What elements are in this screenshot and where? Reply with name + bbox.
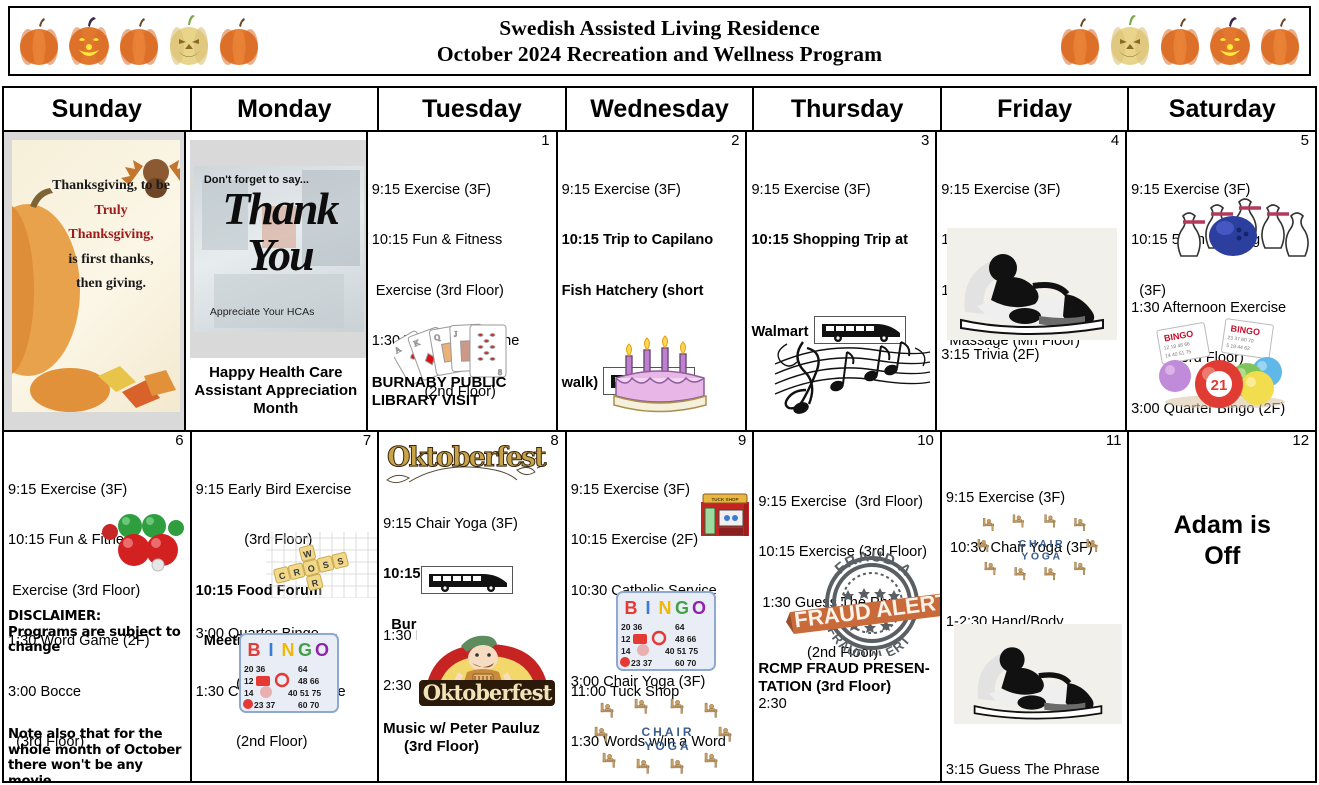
event-item: 10:15 Shopping Trip at bbox=[751, 232, 931, 249]
svg-text:CHAIR: CHAIR bbox=[1019, 538, 1065, 550]
library-visit-note: BURNABY PUBLIC LIBRARY VISIT bbox=[372, 374, 507, 410]
weekday-header-tuesday: Tuesday bbox=[379, 88, 567, 130]
event-item: 10:15 Trip to Capilano bbox=[562, 232, 742, 249]
day-number: 1 bbox=[541, 133, 549, 150]
svg-text:23 37: 23 37 bbox=[254, 700, 276, 710]
music-notes-icon bbox=[765, 324, 935, 422]
weekday-header-thursday: Thursday bbox=[754, 88, 942, 130]
day-cell-empty-sunday[interactable]: Thanksgiving, to be Truly Thanksgiving, … bbox=[4, 132, 186, 430]
event-item: 9:15 Exercise (3rd Floor) bbox=[758, 494, 936, 511]
svg-text:O: O bbox=[692, 598, 706, 618]
bowling-icon bbox=[1167, 182, 1311, 258]
oktoberfest-logo-icon: Oktoberfest bbox=[417, 616, 557, 712]
svg-text:B: B bbox=[624, 598, 637, 618]
svg-text:O: O bbox=[315, 640, 329, 660]
svg-text:YOGA: YOGA bbox=[1021, 550, 1063, 562]
event-item: 3:15 Guess The Phrase bbox=[946, 762, 1100, 779]
photo-caption-line4: then giving. bbox=[52, 272, 170, 297]
weekday-header-sunday: Sunday bbox=[4, 88, 192, 130]
banner-title: Swedish Assisted Living Residence Octobe… bbox=[262, 15, 1057, 67]
rcmp-presentation-note: RCMP FRAUD PRESEN- TATION (3rd Floor) bbox=[758, 660, 929, 696]
day-cell-6[interactable]: 6 9:15 Exercise (3F) 10:15 Fun & Fitness… bbox=[4, 432, 192, 781]
day-cell-10[interactable]: 10 9:15 Exercise (3rd Floor) 10:15 Exerc… bbox=[754, 432, 942, 781]
thank-you-photo: Don't forget to say... Thank You Appreci… bbox=[190, 140, 368, 358]
day-cell-4[interactable]: 4 9:15 Exercise (3F) 10:30 Chair Yoga (3… bbox=[937, 132, 1127, 430]
day-cell-empty-monday[interactable]: Don't forget to say... Thank You Appreci… bbox=[186, 132, 368, 430]
event-item: walk) bbox=[562, 358, 602, 392]
thankyou-line2: Thank You bbox=[200, 186, 360, 278]
adam-off-note: Adam is Off bbox=[1129, 510, 1315, 571]
svg-text:48 66: 48 66 bbox=[298, 676, 320, 686]
day-cell-11[interactable]: 11 9:15 Exercise (3F) 10:30 Chair Yoga (… bbox=[942, 432, 1130, 781]
svg-text:40 51 75: 40 51 75 bbox=[665, 646, 698, 656]
svg-text:G: G bbox=[298, 640, 312, 660]
svg-text:N: N bbox=[281, 640, 294, 660]
svg-text:20 36: 20 36 bbox=[621, 622, 643, 632]
day-cell-7[interactable]: 7 9:15 Early Bird Exercise (3rd Floor) 1… bbox=[192, 432, 380, 781]
pumpkin-jack-pale-icon bbox=[166, 13, 212, 69]
svg-text:14: 14 bbox=[621, 646, 631, 656]
svg-text:I: I bbox=[268, 640, 273, 660]
day-number: 6 bbox=[175, 433, 183, 450]
svg-text:YOGA: YOGA bbox=[644, 739, 691, 753]
svg-text:CHAIR: CHAIR bbox=[641, 725, 694, 739]
weekday-header-saturday: Saturday bbox=[1129, 88, 1315, 130]
svg-text:23 37: 23 37 bbox=[631, 658, 653, 668]
svg-text:60 70: 60 70 bbox=[675, 658, 697, 668]
thanksgiving-photo: Thanksgiving, to be Truly Thanksgiving, … bbox=[12, 140, 180, 412]
day-cell-9[interactable]: 9 TUCK SHOP 9:15 Exercise (3F) 10:15 Exe… bbox=[567, 432, 755, 781]
event-item: 9:15 Early Bird Exercise bbox=[196, 482, 374, 499]
svg-text:48 66: 48 66 bbox=[675, 634, 697, 644]
pumpkin-plain-icon bbox=[1157, 13, 1203, 69]
chair-yoga-icon: CHAIR YOGA bbox=[593, 696, 743, 778]
svg-text:12: 12 bbox=[621, 634, 631, 644]
photo-caption-line1: Thanksgiving, to be bbox=[52, 174, 170, 199]
event-item: 9:15 Exercise (3F) bbox=[751, 182, 931, 199]
svg-text:64: 64 bbox=[675, 622, 685, 632]
bocce-balls-icon bbox=[100, 512, 186, 572]
thankyou-line3: Appreciate Your HCAs bbox=[210, 306, 314, 318]
bingo-balls-icon: BINGO12 18 48 6614 40 51 75 BINGO23 37 6… bbox=[1145, 318, 1305, 408]
weekday-header-monday: Monday bbox=[192, 88, 380, 130]
day-cell-5[interactable]: 5 9:15 Exercise (3F) 10:15 5 Pin Bowling… bbox=[1127, 132, 1315, 430]
event-item: 3:15 Trivia (2F) bbox=[941, 347, 1039, 363]
event-item: 10:15 Fun & Fitness bbox=[372, 232, 552, 249]
day-number: 9 bbox=[738, 433, 746, 450]
event-item: 1:30 Afternoon Exercise bbox=[1131, 300, 1286, 317]
event-item: Exercise (3rd Floor) bbox=[372, 283, 552, 300]
photo-caption-line3: is first thanks, bbox=[52, 248, 170, 273]
oktoberfest-banner-icon: Oktoberfest bbox=[381, 436, 549, 492]
svg-text:12: 12 bbox=[244, 676, 254, 686]
fraud-alert-icon: FRAUD ALERT FRAUD ALERT FRAUD ALERT bbox=[784, 550, 942, 656]
day-number: 5 bbox=[1301, 133, 1309, 150]
svg-text:60 70: 60 70 bbox=[298, 700, 320, 710]
day-cell-1[interactable]: 1 9:15 Exercise (3F) 10:15 Fun & Fitness… bbox=[368, 132, 558, 430]
event-item: 9:15 Chair Yoga (3F) bbox=[383, 516, 561, 533]
svg-text:Oktoberfest: Oktoberfest bbox=[387, 442, 547, 473]
day-cell-2[interactable]: 2 9:15 Exercise (3F) 10:15 Trip to Capil… bbox=[558, 132, 748, 430]
massage-chair-icon bbox=[954, 624, 1122, 724]
wheel-of-fortune-icon: of bbox=[388, 418, 448, 430]
crossword-icon: CROSS WR bbox=[266, 532, 378, 598]
day-cell-12[interactable]: 12 Adam is Off bbox=[1129, 432, 1315, 781]
birthday-cake-icon bbox=[604, 316, 716, 420]
bingo-card-icon: BI NGO 20 3664 121848 66 1440 51 75 23 3… bbox=[236, 630, 342, 716]
disclaimer-block: DISCLAIMER: Programs are subject to chan… bbox=[8, 578, 186, 781]
photo-caption-line2: Truly Thanksgiving, bbox=[52, 199, 170, 248]
svg-text:14: 14 bbox=[244, 688, 254, 698]
week-row-2: 6 9:15 Exercise (3F) 10:15 Fun & Fitness… bbox=[4, 432, 1315, 781]
day-number: 3 bbox=[921, 133, 929, 150]
week-row-1: Thanksgiving, to be Truly Thanksgiving, … bbox=[4, 132, 1315, 432]
svg-text:N: N bbox=[658, 598, 671, 618]
pumpkin-plain-icon bbox=[116, 13, 162, 69]
disclaimer-text: DISCLAIMER: Programs are subject to chan… bbox=[8, 609, 186, 656]
banner-title-line1: Swedish Assisted Living Residence bbox=[262, 15, 1057, 41]
day-number: 11 bbox=[1106, 433, 1122, 450]
pumpkin-plain-icon bbox=[16, 13, 62, 69]
day-number: 8 bbox=[550, 433, 558, 450]
svg-text:J: J bbox=[454, 329, 458, 338]
pumpkin-plain-icon bbox=[1257, 13, 1303, 69]
pumpkin-jack-smile-icon bbox=[1207, 13, 1253, 69]
event-item: 2:30 bbox=[758, 696, 936, 713]
event-item: (2nd Floor) bbox=[196, 734, 374, 751]
bingo-card-icon: BI NGO 20 3664 121848 66 1440 51 75 23 3… bbox=[613, 588, 719, 674]
svg-text:FRAUD ALERT: FRAUD ALERT bbox=[793, 589, 942, 633]
pumpkin-plain-icon bbox=[1057, 13, 1103, 69]
calendar-grid: Sunday Monday Tuesday Wednesday Thursday… bbox=[2, 86, 1317, 783]
event-item: 9:15 Exercise (3F) bbox=[941, 182, 1121, 199]
event-item: 9:15 Exercise (3F) bbox=[8, 482, 186, 499]
banner-title-line2: October 2024 Recreation and Wellness Pro… bbox=[262, 41, 1057, 67]
event-item: 3:00 Chair Yoga (3F) bbox=[571, 674, 706, 690]
event-item: 9:15 Exercise (3F) bbox=[562, 182, 742, 199]
day-number: 4 bbox=[1111, 133, 1119, 150]
day-number: 2 bbox=[731, 133, 739, 150]
day-cell-3[interactable]: 3 9:15 Exercise (3F) 10:15 Shopping Trip… bbox=[747, 132, 937, 430]
svg-text:B: B bbox=[247, 640, 260, 660]
pumpkin-row-left bbox=[16, 13, 262, 69]
day-number: 7 bbox=[363, 433, 371, 450]
page-banner: Swedish Assisted Living Residence Octobe… bbox=[8, 6, 1311, 76]
pumpkin-row-right bbox=[1057, 13, 1303, 69]
svg-text:I: I bbox=[645, 598, 650, 618]
weekday-header-wednesday: Wednesday bbox=[567, 88, 755, 130]
svg-text:20 36: 20 36 bbox=[244, 664, 266, 674]
pumpkin-jack-pale-icon bbox=[1107, 13, 1153, 69]
day-number: 10 bbox=[917, 433, 934, 450]
day-cell-8[interactable]: 8 Oktoberfest 9:15 Chair Yoga (3F) 10:15… bbox=[379, 432, 567, 781]
chair-yoga-icon: CHAIR YOGA bbox=[968, 512, 1116, 584]
massage-chair-icon bbox=[947, 228, 1117, 340]
pumpkin-plain-icon bbox=[216, 13, 262, 69]
hca-appreciation-caption: Happy Health Care Assistant Appreciation… bbox=[190, 364, 362, 418]
svg-text:40 51 75: 40 51 75 bbox=[288, 688, 321, 698]
disclaimer-note: Note also that for the whole month of Oc… bbox=[8, 727, 186, 781]
tuck-shop-icon: TUCK SHOP bbox=[697, 488, 753, 540]
oktoberfest-music-note: Music w/ Peter Pauluz (3rd Floor) bbox=[383, 720, 540, 756]
day-number: 12 bbox=[1292, 433, 1309, 450]
svg-text:TUCK SHOP: TUCK SHOP bbox=[711, 497, 738, 502]
event-item: 9:15 Exercise (3F) bbox=[946, 490, 1124, 507]
svg-text:21: 21 bbox=[1211, 377, 1228, 394]
svg-text:Oktoberfest: Oktoberfest bbox=[423, 680, 553, 705]
weekday-header-row: Sunday Monday Tuesday Wednesday Thursday… bbox=[4, 88, 1315, 132]
event-item: 9:15 Exercise (3F) bbox=[372, 182, 552, 199]
pumpkin-jack-smile-icon bbox=[66, 13, 112, 69]
svg-text:G: G bbox=[675, 598, 689, 618]
weekday-header-friday: Friday bbox=[942, 88, 1130, 130]
svg-text:64: 64 bbox=[298, 664, 308, 674]
event-item: Fish Hatchery (short bbox=[562, 283, 742, 300]
